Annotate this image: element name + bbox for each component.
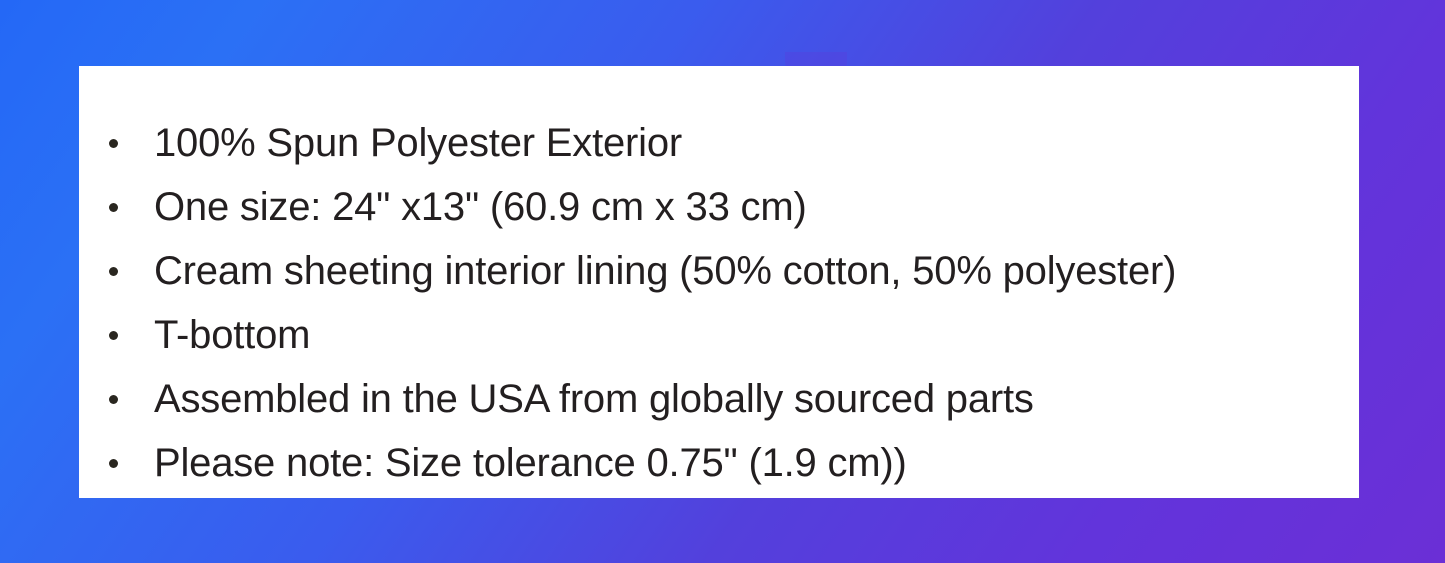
list-item-label: T-bottom (154, 315, 310, 355)
list-item-label: Cream sheeting interior lining (50% cott… (154, 251, 1176, 291)
bullet-dot-icon (109, 395, 118, 404)
list-item: One size: 24" x13" (60.9 cm x 33 cm) (109, 175, 807, 239)
list-item-label: Please note: Size tolerance 0.75" (1.9 c… (154, 443, 907, 483)
specification-card: 100% Spun Polyester Exterior One size: 2… (79, 66, 1359, 498)
list-item-label: One size: 24" x13" (60.9 cm x 33 cm) (154, 187, 807, 227)
product-spec-banner: 100% Spun Polyester Exterior One size: 2… (0, 0, 1445, 563)
list-item-label: 100% Spun Polyester Exterior (154, 123, 682, 163)
list-item: Assembled in the USA from globally sourc… (109, 367, 1034, 431)
list-item: Please note: Size tolerance 0.75" (1.9 c… (109, 431, 907, 495)
list-item-label: Assembled in the USA from globally sourc… (154, 379, 1034, 419)
bullet-dot-icon (109, 203, 118, 212)
bullet-dot-icon (109, 267, 118, 276)
list-item: T-bottom (109, 303, 310, 367)
list-item: 100% Spun Polyester Exterior (109, 111, 682, 175)
bullet-dot-icon (109, 331, 118, 340)
bullet-dot-icon (109, 459, 118, 468)
bullet-dot-icon (109, 139, 118, 148)
list-item: Cream sheeting interior lining (50% cott… (109, 239, 1176, 303)
